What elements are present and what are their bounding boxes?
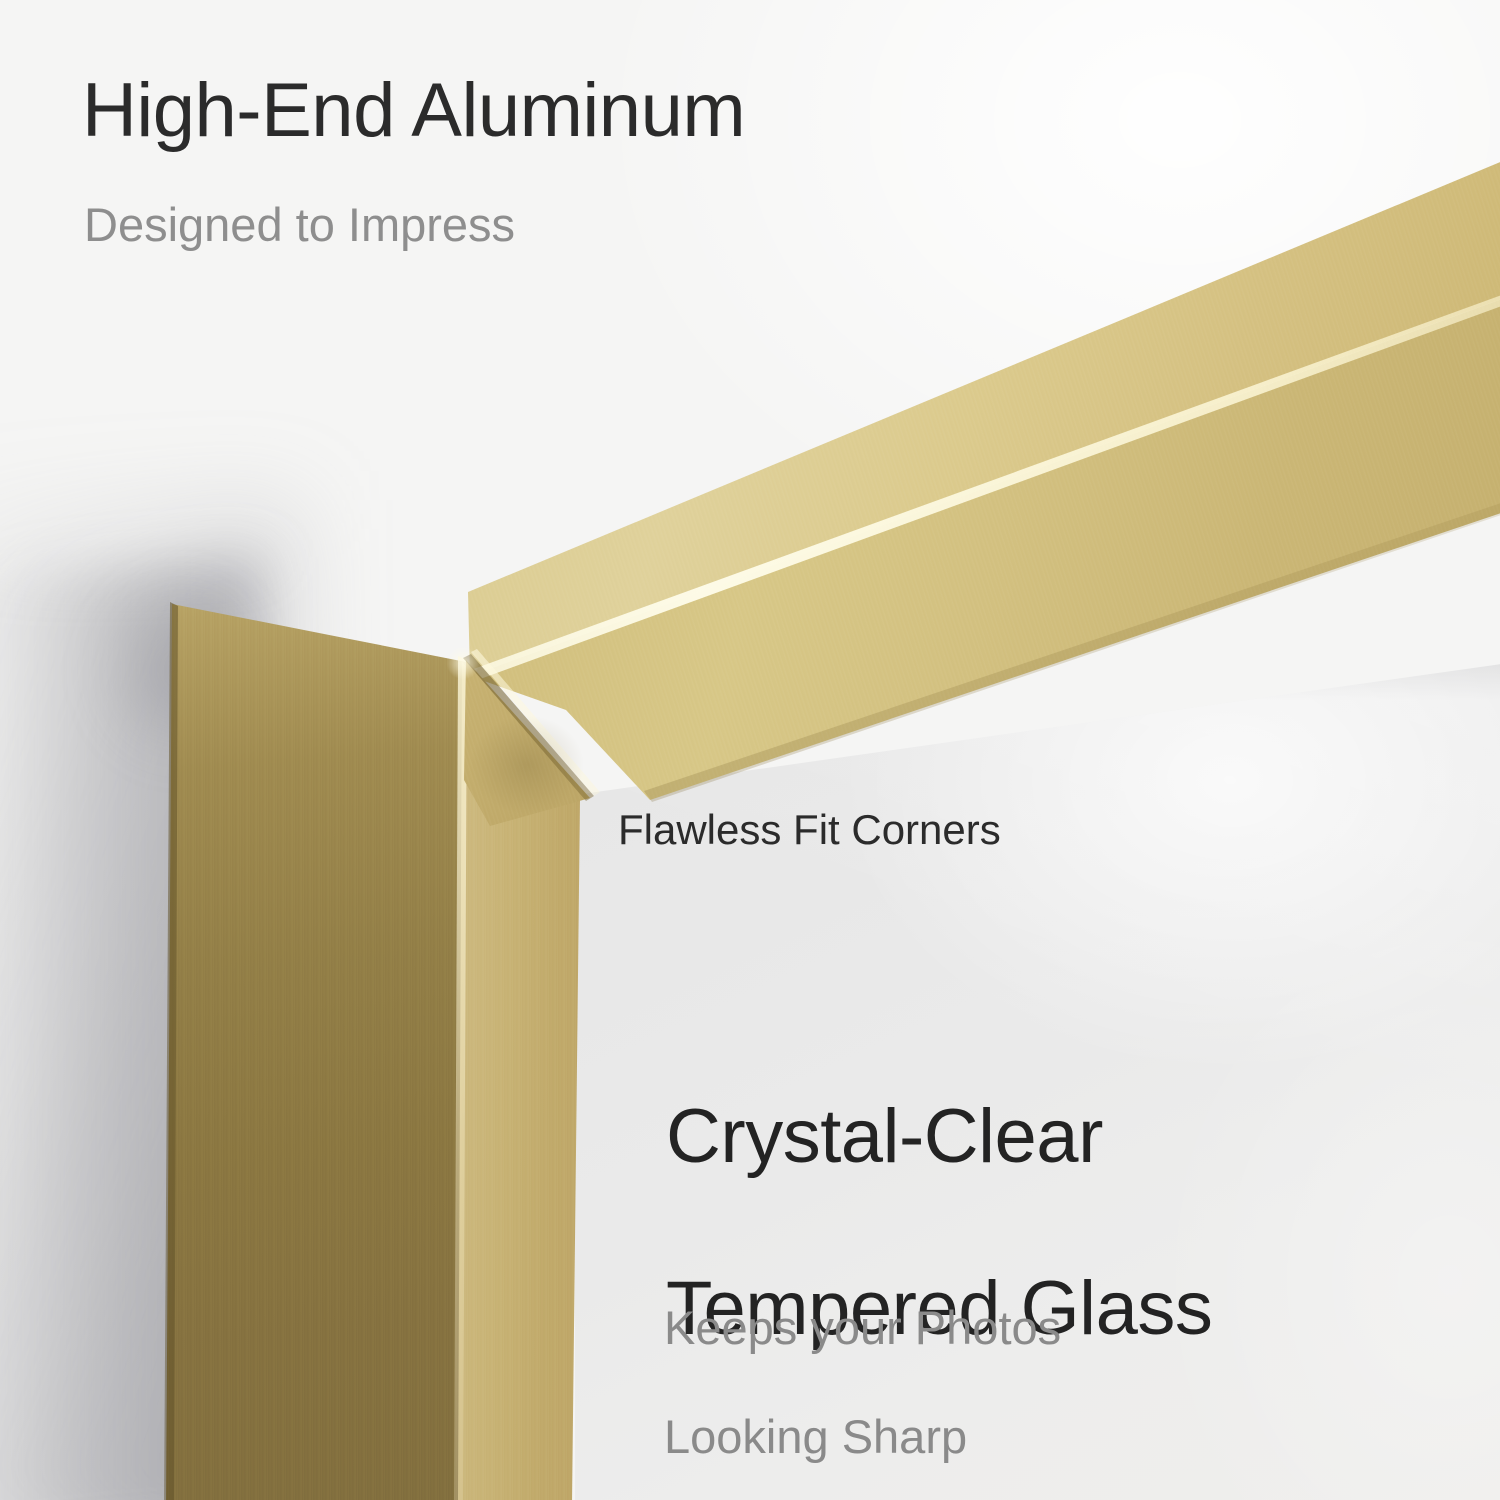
callout-glass-subtitle-line-2: Looking Sharp [664,1410,967,1463]
callout-flawless-fit-corners: Flawless Fit Corners [618,808,1001,852]
callout-glass-title-line-1: Crystal-Clear [666,1094,1103,1179]
page-title: High-End Aluminum [82,72,745,150]
frame-corner-shading [452,700,602,830]
callout-glass-subtitle: Keeps your Photos Looking Sharp [664,1246,1061,1464]
frame-corner-apex-highlight [440,640,486,686]
brushed-texture [150,560,490,1500]
frame-left-rail-side-face [150,560,490,1500]
product-feature-graphic: High-End Aluminum Designed to Impress Fl… [0,0,1500,1500]
page-subtitle: Designed to Impress [84,200,515,249]
callout-glass-subtitle-line-1: Keeps your Photos [664,1301,1061,1354]
